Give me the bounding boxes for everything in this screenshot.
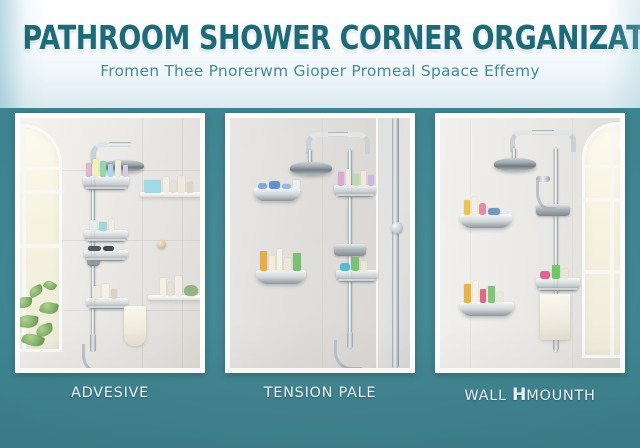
product-photo-tension-pole xyxy=(230,118,410,368)
basket-items-tier-3 xyxy=(88,244,114,251)
panel-label-adhesive: ADVESIVE xyxy=(15,385,205,415)
panel-label-tension-pole: TENSION PALE xyxy=(225,385,415,415)
hanging-towel xyxy=(124,306,146,346)
toiletries-upper-ledge xyxy=(144,174,193,193)
product-panel-wall-mount[interactable] xyxy=(435,113,625,373)
pole-basket-middle xyxy=(536,278,580,291)
pole-basket-items-upper xyxy=(338,168,374,186)
shelf-items-upper xyxy=(464,196,500,215)
shower-fixture xyxy=(300,124,370,368)
page-subtitle: Fromen Thee Pnorerwm Gioper Promeal Spaa… xyxy=(0,61,640,81)
arched-window xyxy=(582,122,620,358)
product-photo-adhesive xyxy=(20,118,200,368)
pole-basket-lower xyxy=(336,270,378,282)
basket-items-tier-4 xyxy=(92,284,117,299)
shower-hose xyxy=(334,340,362,368)
window-mullion xyxy=(582,270,620,274)
infographic-canvas: PATHROOM SHOWER CORNER ORGANIZATION From… xyxy=(0,0,640,448)
window-plants xyxy=(20,260,62,352)
window-mullion xyxy=(20,190,62,194)
page-title: PATHROOM SHOWER CORNER ORGANIZATION xyxy=(22,21,617,55)
corner-basket-tier-1 xyxy=(83,176,129,190)
pole-basket-items-lower xyxy=(340,256,367,271)
basket-items-tier-1 xyxy=(86,158,128,177)
shower-mixer-valve xyxy=(334,244,366,256)
product-panel-adhesive[interactable] xyxy=(15,113,205,373)
door-roller xyxy=(391,222,403,234)
product-photo-wall-mount xyxy=(440,118,620,368)
pole-basket-upper xyxy=(334,185,376,197)
toiletries-lower-ledge xyxy=(160,274,198,296)
door-rail-post xyxy=(392,118,399,368)
pole-basket-items xyxy=(540,264,568,279)
shelf-items-upper xyxy=(258,176,300,189)
wall-shelf-lower xyxy=(256,270,306,284)
rain-shower-head xyxy=(290,162,332,175)
wall-shelf-upper xyxy=(254,188,300,201)
window-mullion xyxy=(610,122,614,358)
panel-label-wall-mount-suffix: MOUNTH xyxy=(526,388,595,404)
shelf-items-lower xyxy=(464,280,503,303)
hanging-towel xyxy=(540,294,570,340)
product-panel-row xyxy=(0,113,640,375)
panel-label-wall-mount-prefix: WALL xyxy=(464,388,512,404)
shower-arm xyxy=(108,142,132,147)
rain-shower-head xyxy=(494,158,536,171)
window-mullion xyxy=(582,198,620,202)
panel-label-wall-mount: WALL HMOUNTH xyxy=(435,385,625,415)
header-band: PATHROOM SHOWER CORNER ORGANIZATION From… xyxy=(0,0,640,108)
towel-hook xyxy=(157,240,166,249)
shower-hose xyxy=(82,344,104,368)
product-panel-tension-pole[interactable] xyxy=(225,113,415,373)
window-mullion xyxy=(20,244,62,248)
panel-label-wall-mount-accent: H xyxy=(512,385,526,405)
basket-items-tier-2 xyxy=(90,218,114,231)
shelf-items-lower xyxy=(260,248,301,271)
arched-window xyxy=(20,124,62,352)
corner-basket-tier-3 xyxy=(84,250,128,261)
corner-basket-tier-2 xyxy=(84,230,128,242)
corner-basket-tier-4 xyxy=(86,298,128,309)
label-row: ADVESIVE TENSION PALE WALL HMOUNTH xyxy=(0,385,640,415)
